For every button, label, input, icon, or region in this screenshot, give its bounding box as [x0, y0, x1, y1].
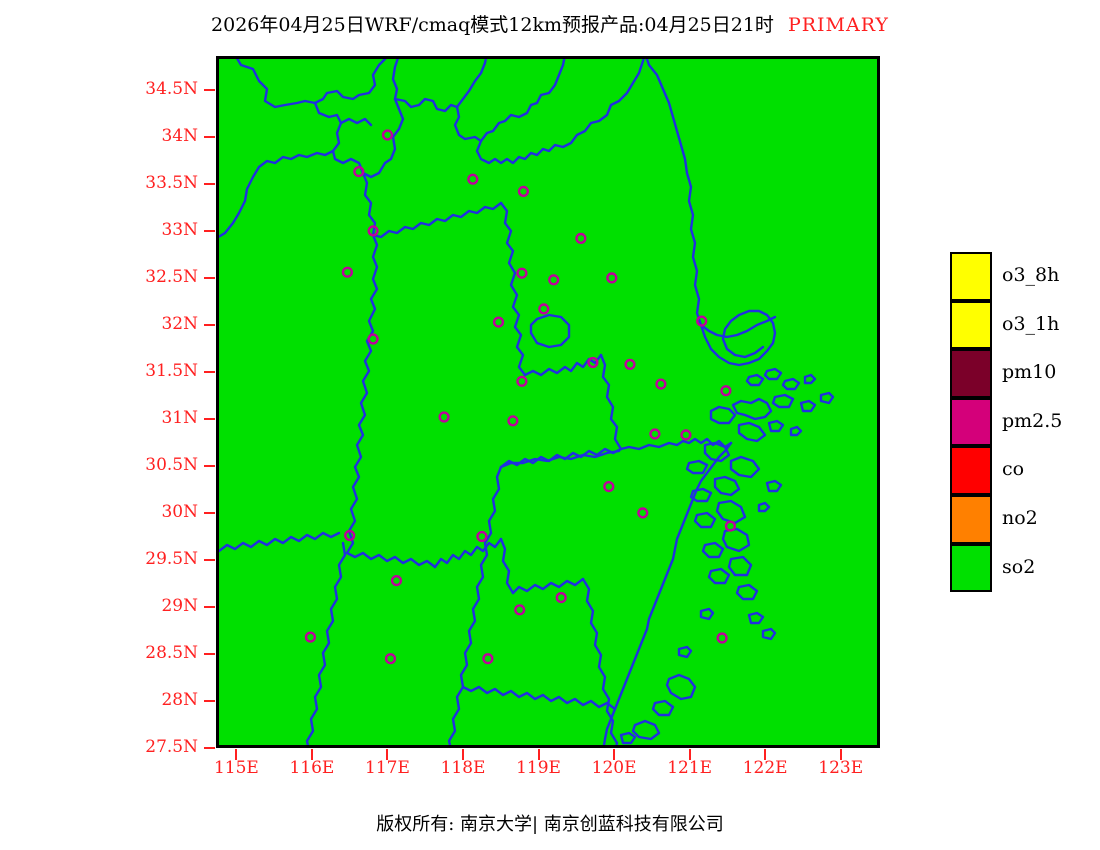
y-axis-tick	[204, 747, 215, 749]
y-axis-label-32.5n: 32.5N	[120, 267, 198, 287]
y-axis-label-31.5n: 31.5N	[120, 361, 198, 381]
x-axis-tick	[538, 749, 540, 760]
y-axis-tick	[204, 136, 215, 138]
legend-label-pm10: pm10	[1002, 361, 1056, 383]
x-axis-label-123e: 123E	[806, 758, 876, 778]
map-background	[219, 59, 877, 745]
y-axis-label-33n: 33N	[120, 220, 198, 240]
y-axis-tick	[204, 465, 215, 467]
y-axis-tick	[204, 418, 215, 420]
y-axis-tick	[204, 512, 215, 514]
copyright-footer: 版权所有: 南京大学| 南京创蓝科技有限公司	[0, 810, 1100, 836]
x-axis-label-121e: 121E	[655, 758, 725, 778]
y-axis-label-33.5n: 33.5N	[120, 173, 198, 193]
y-axis-label-34.5n: 34.5N	[120, 79, 198, 99]
map-canvas[interactable]	[219, 59, 877, 745]
map-panel[interactable]	[216, 56, 880, 748]
y-axis-tick	[204, 324, 215, 326]
x-axis-label-116e: 116E	[277, 758, 347, 778]
title-main-text: 2026年04月25日WRF/cmaq模式12km预报产品:04月25日21时	[211, 14, 774, 36]
x-axis-label-122e: 122E	[730, 758, 800, 778]
y-axis-tick	[204, 559, 215, 561]
legend-label-pm2-5: pm2.5	[1002, 410, 1062, 432]
x-axis-tick	[840, 749, 842, 760]
y-axis-tick	[204, 89, 215, 91]
y-axis-tick	[204, 606, 215, 608]
x-axis-tick	[764, 749, 766, 760]
legend-swatch-co	[950, 446, 992, 495]
x-axis-label-115e: 115E	[201, 758, 271, 778]
y-axis-tick	[204, 230, 215, 232]
x-axis-tick	[235, 749, 237, 760]
y-axis-tick	[204, 277, 215, 279]
x-axis-label-119e: 119E	[504, 758, 574, 778]
y-axis-tick	[204, 371, 215, 373]
legend-label-no2: no2	[1002, 507, 1038, 529]
legend-label-o3-1h: o3_1h	[1002, 313, 1059, 335]
legend-swatch-pm2-5	[950, 398, 992, 447]
x-axis-tick	[386, 749, 388, 760]
y-axis-label-30n: 30N	[120, 502, 198, 522]
chart-title: 2026年04月25日WRF/cmaq模式12km预报产品:04月25日21时P…	[0, 10, 1100, 37]
title-primary-label: PRIMARY	[788, 14, 889, 36]
y-axis-label-28n: 28N	[120, 690, 198, 710]
x-axis-label-120e: 120E	[579, 758, 649, 778]
x-axis-label-117e: 117E	[352, 758, 422, 778]
y-axis-label-31n: 31N	[120, 408, 198, 428]
y-axis-label-28.5n: 28.5N	[120, 643, 198, 663]
legend-label-co: co	[1002, 458, 1024, 480]
legend-swatch-no2	[950, 495, 992, 544]
y-axis-label-29.5n: 29.5N	[120, 549, 198, 569]
y-axis-label-29n: 29N	[120, 596, 198, 616]
y-axis-tick	[204, 183, 215, 185]
x-axis-tick	[462, 749, 464, 760]
y-axis-tick	[204, 653, 215, 655]
legend-label-o3-8h: o3_8h	[1002, 264, 1059, 286]
x-axis-tick	[689, 749, 691, 760]
x-axis-tick	[613, 749, 615, 760]
y-axis-label-30.5n: 30.5N	[120, 455, 198, 475]
legend-label-so2: so2	[1002, 556, 1035, 578]
legend-swatch-so2	[950, 544, 992, 593]
legend-swatch-o3-8h	[950, 252, 992, 301]
y-axis-label-32n: 32N	[120, 314, 198, 334]
y-axis-label-27.5n: 27.5N	[120, 737, 198, 757]
y-axis-tick	[204, 700, 215, 702]
x-axis-label-118e: 118E	[428, 758, 498, 778]
y-axis-label-34n: 34N	[120, 126, 198, 146]
legend-swatch-pm10	[950, 349, 992, 398]
legend-swatch-o3-1h	[950, 301, 992, 350]
x-axis-tick	[311, 749, 313, 760]
